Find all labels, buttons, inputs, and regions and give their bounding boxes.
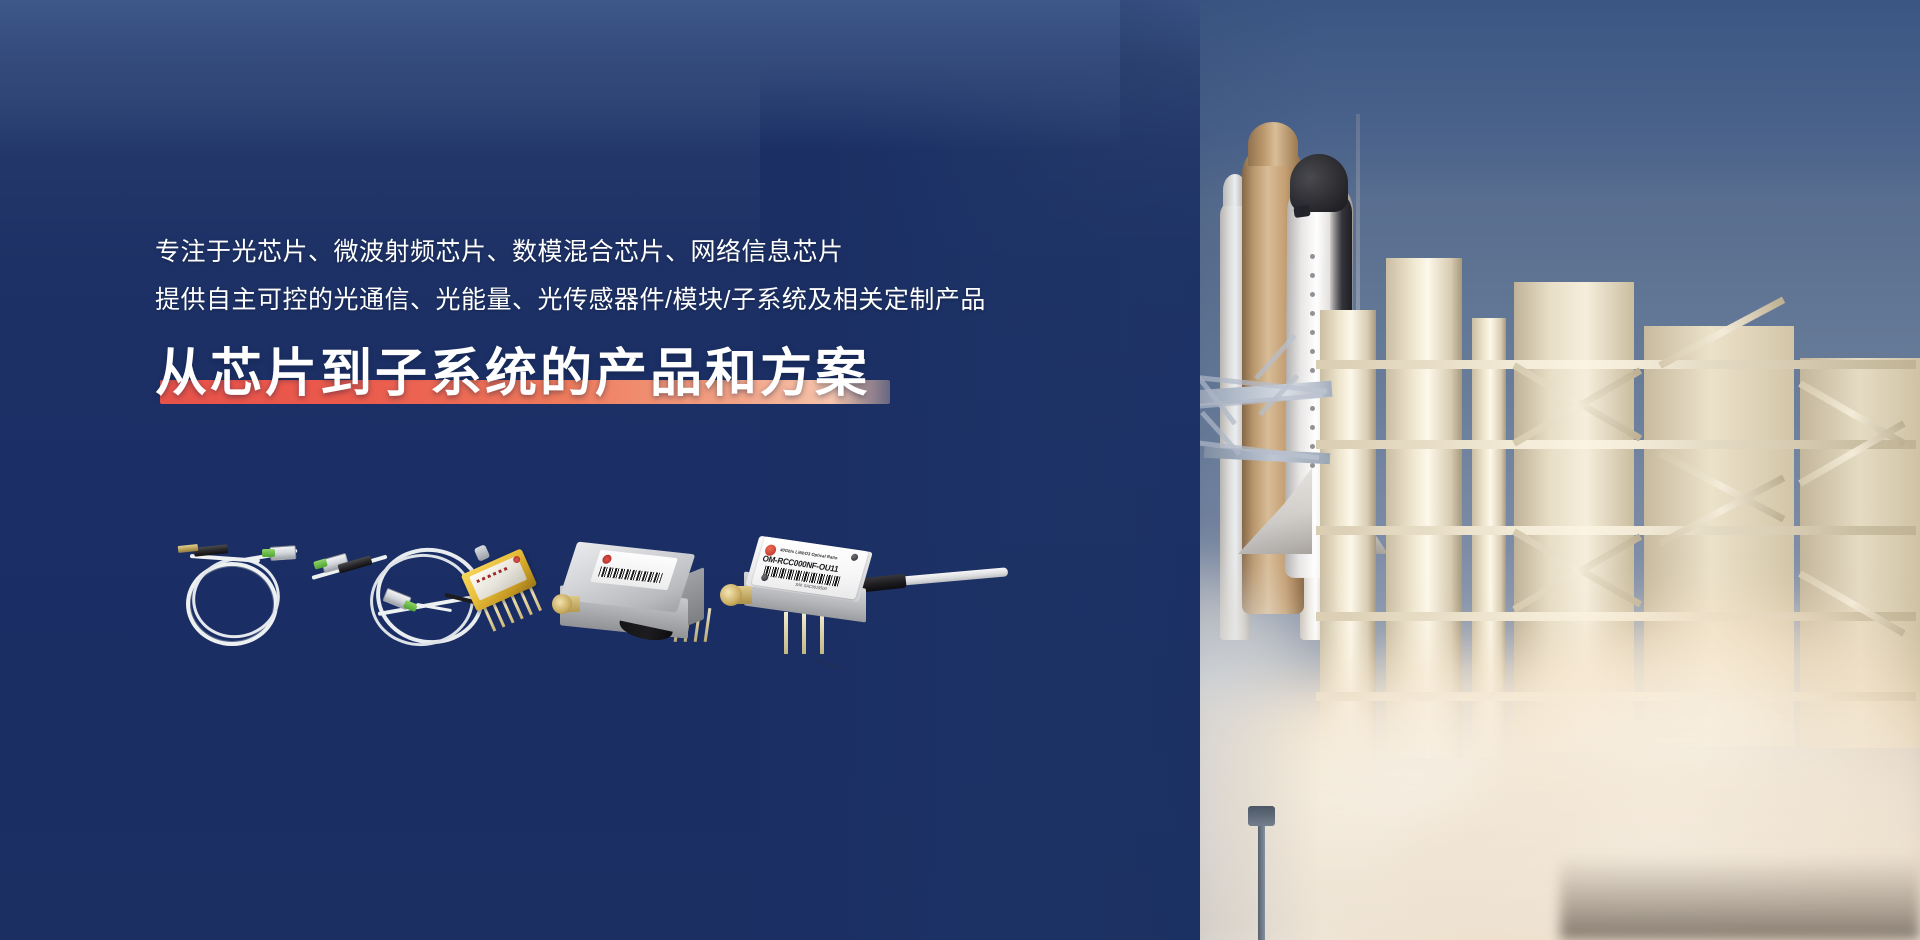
package-pin-row [782,612,838,656]
output-cable [900,567,1008,585]
product-fiber-pigtail-coil[interactable] [158,532,308,652]
barcode [598,566,663,583]
headline-block: 从芯片到子系统的产品和方案 [155,338,1155,414]
subtitle-line-2: 提供自主可控的光通信、光能量、光传感器件/模块/子系统及相关定制产品 [155,276,1155,324]
housing-screw [850,553,859,561]
ground-shadow [1560,856,1920,940]
thermistor-cap [474,544,491,562]
hero-copy: 专注于光芯片、微波射频芯片、数模混合芯片、网络信息芯片 提供自主可控的光通信、光… [155,228,1155,414]
product-butterfly-laser-module[interactable] [450,540,560,650]
housing-screw [760,574,769,582]
subtitle-line-1: 专注于光芯片、微波射频芯片、数模混合芯片、网络信息芯片 [155,228,1155,276]
connector-boot-green [262,549,275,557]
page-title: 从芯片到子系统的产品和方案 [155,338,1155,410]
cable-boot [861,574,906,593]
product-linbo3-optical-modulator[interactable]: +V GND RF 40Gb/s LiNbO3 Optical Ratio OM… [720,528,1020,660]
product-metal-box-rf-module[interactable] [548,534,716,660]
sma-connector [720,584,742,606]
connector-boot [194,544,229,557]
sma-connector [552,594,572,614]
background-scene [0,0,1920,940]
hero-banner: 专注于光芯片、微波射频芯片、数模混合芯片、网络信息芯片 提供自主可控的光通信、光… [0,0,1920,940]
navy-top-highlight [0,0,1120,150]
product-showcase-row: +V GND RF 40Gb/s LiNbO3 Optical Ratio OM… [150,528,1030,668]
brand-logo-dot [601,554,613,564]
